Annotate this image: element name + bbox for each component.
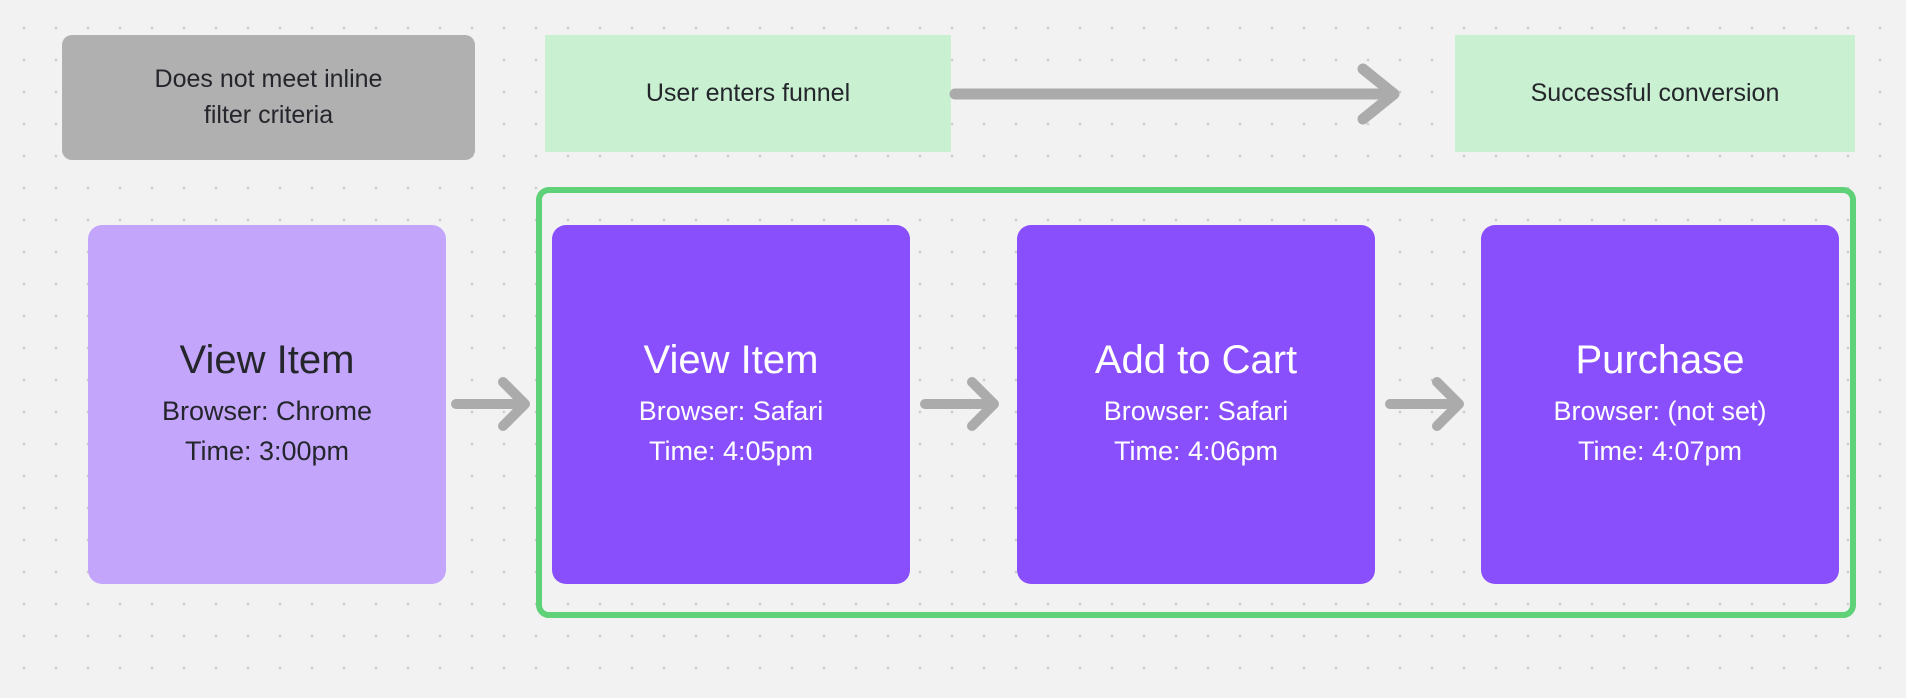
- event-card-excluded[interactable]: View Item Browser: Chrome Time: 3:00pm: [88, 225, 446, 584]
- legend-successful-conversion-box: Successful conversion: [1455, 35, 1855, 152]
- event-card-title: Purchase: [1576, 337, 1745, 383]
- event-card-title: View Item: [644, 337, 819, 383]
- event-card-browser: Browser: (not set): [1553, 392, 1766, 432]
- legend-enters-funnel-label: User enters funnel: [646, 77, 850, 111]
- event-card-browser: Browser: Safari: [1104, 392, 1289, 432]
- event-card-title: View Item: [180, 337, 355, 383]
- event-card-step-2[interactable]: Add to Cart Browser: Safari Time: 4:06pm: [1017, 225, 1375, 584]
- event-card-time: Time: 4:05pm: [649, 432, 813, 472]
- legend-excluded-line1: Does not meet inline: [155, 62, 383, 98]
- legend-excluded-box: Does not meet inline filter criteria: [62, 35, 475, 160]
- event-card-time: Time: 3:00pm: [185, 432, 349, 472]
- event-card-time: Time: 4:07pm: [1578, 432, 1742, 472]
- event-card-time: Time: 4:06pm: [1114, 432, 1278, 472]
- chevron-right-arrow-icon: [922, 378, 1004, 430]
- event-card-step-1[interactable]: View Item Browser: Safari Time: 4:05pm: [552, 225, 910, 584]
- legend-excluded-line2: filter criteria: [155, 98, 383, 134]
- legend-enters-funnel-box: User enters funnel: [545, 35, 951, 152]
- event-card-browser: Browser: Safari: [639, 392, 824, 432]
- long-right-arrow-icon: [951, 66, 1423, 122]
- event-card-browser: Browser: Chrome: [162, 392, 372, 432]
- legend-successful-conversion-label: Successful conversion: [1531, 77, 1780, 111]
- chevron-right-arrow-icon: [453, 378, 535, 430]
- event-card-title: Add to Cart: [1095, 337, 1297, 383]
- diagram-canvas: Does not meet inline filter criteria Use…: [0, 0, 1906, 698]
- chevron-right-arrow-icon: [1387, 378, 1469, 430]
- event-card-step-3[interactable]: Purchase Browser: (not set) Time: 4:07pm: [1481, 225, 1839, 584]
